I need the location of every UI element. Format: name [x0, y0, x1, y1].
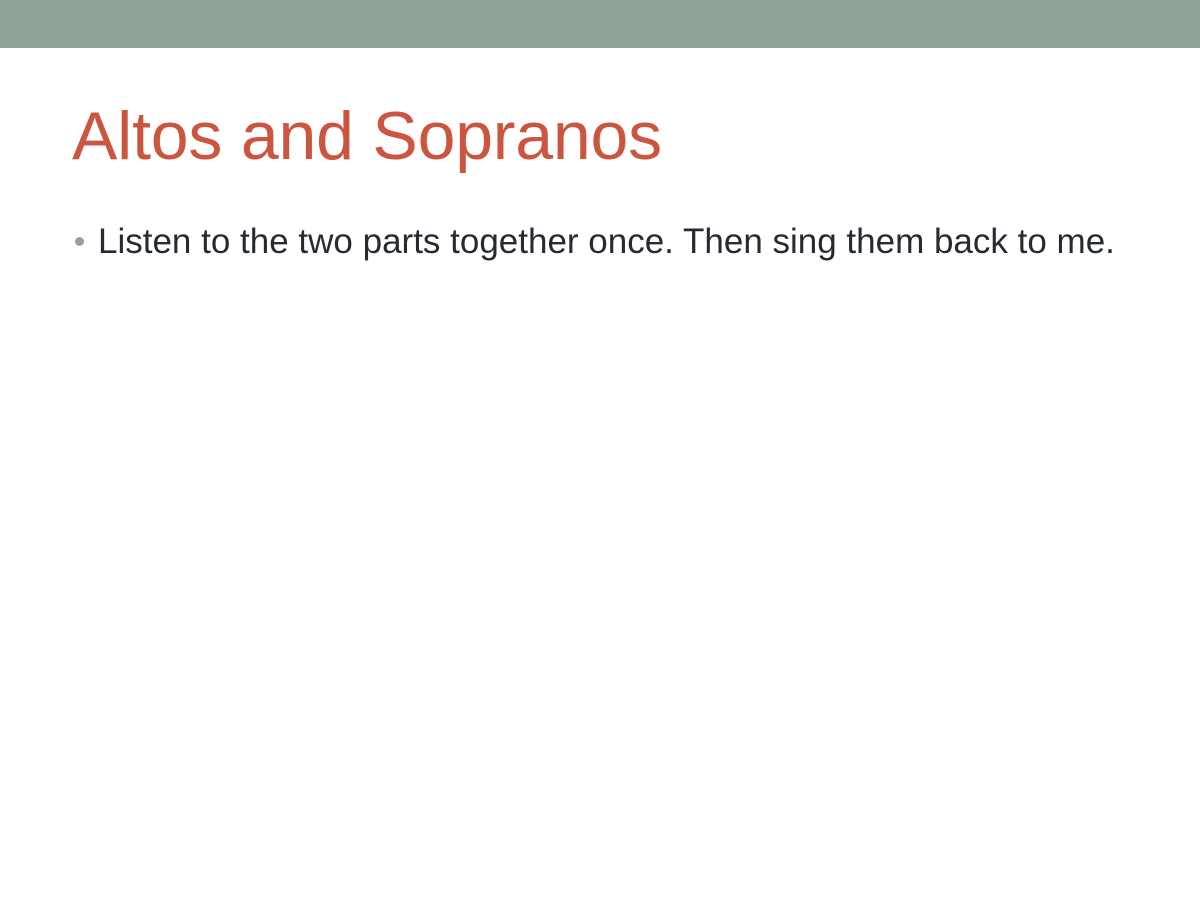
bullet-list: Listen to the two parts together once. T… — [72, 218, 1126, 266]
title-placeholder[interactable]: Altos and Sopranos — [72, 96, 1128, 176]
list-item: Listen to the two parts together once. T… — [72, 218, 1126, 266]
top-accent-band — [0, 0, 1200, 48]
slide: Altos and Sopranos Listen to the two par… — [0, 0, 1200, 900]
body-placeholder[interactable]: Listen to the two parts together once. T… — [72, 218, 1126, 266]
page-title: Altos and Sopranos — [72, 96, 1128, 176]
list-item-text: Listen to the two parts together once. T… — [98, 218, 1126, 266]
bullet-dot-icon — [75, 237, 84, 246]
